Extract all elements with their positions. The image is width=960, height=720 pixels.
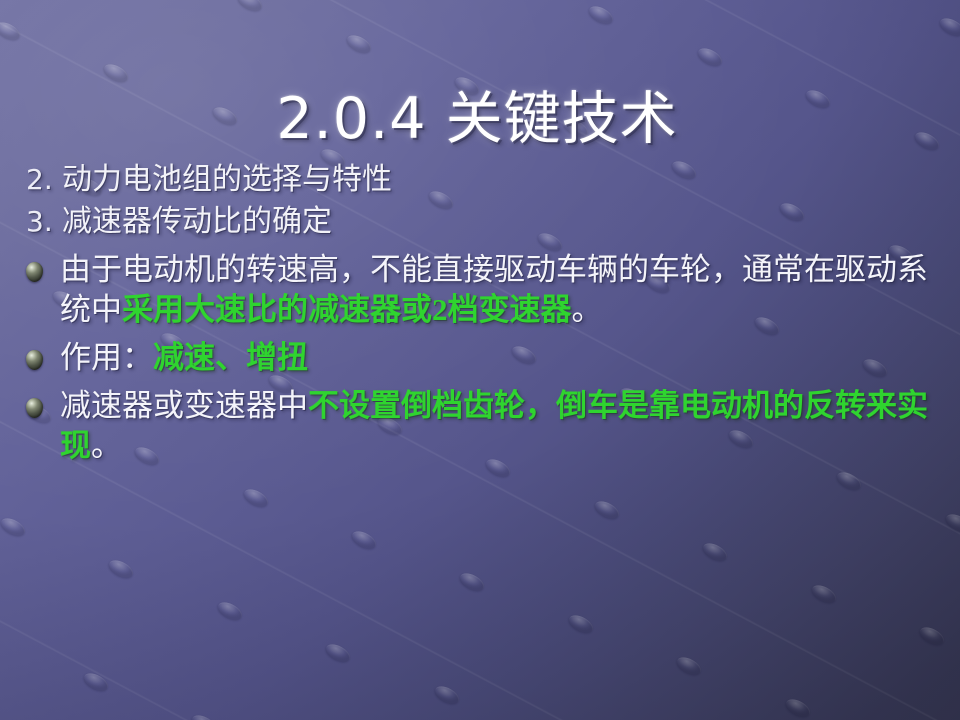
list-number: 3.: [26, 202, 62, 242]
bullet-run-highlight: 采用大速比的减速器或2档变速器: [122, 292, 572, 327]
background-bead: [675, 653, 705, 678]
bullet-run-highlight: 减速、增扭: [153, 340, 308, 375]
background-bead: [917, 624, 947, 649]
background-bead: [938, 15, 960, 40]
bullet-text: 由于电动机的转速高，不能直接驱动车辆的车轮，通常在驱动系统中采用大速比的减速器或…: [60, 250, 944, 330]
bullet-list-item: 减速器或变速器中不设置倒档齿轮，倒车是靠电动机的反转来实现。: [26, 386, 944, 466]
background-bead: [81, 670, 111, 695]
background-bead: [236, 0, 266, 14]
background-bead: [587, 3, 617, 28]
background-bead: [107, 557, 137, 582]
bullet-list-item: 作用：减速、增扭: [26, 338, 944, 378]
background-bead: [323, 641, 353, 666]
background-bead: [189, 712, 219, 720]
bullet-run-plain: 。: [91, 428, 122, 463]
page-title: 2.0.4 关键技术: [276, 90, 683, 150]
sphere-bullet-icon: [26, 386, 60, 418]
sphere-bullet-icon: [26, 338, 60, 370]
background-bead: [835, 469, 865, 494]
background-bead: [0, 628, 2, 653]
background-bead: [215, 599, 245, 624]
list-item-label: 减速器传动比的确定: [62, 202, 944, 242]
bullet-text: 作用：减速、增扭: [60, 338, 944, 378]
list-item-label: 动力电池组的选择与特性: [62, 160, 944, 200]
background-bead: [700, 540, 730, 565]
bullet-run-plain: 作用：: [60, 340, 153, 375]
background-bead: [349, 527, 379, 552]
background-bead: [458, 569, 488, 594]
list-number: 2.: [26, 160, 62, 200]
bullet-run-plain: 减速器或变速器中: [60, 388, 308, 423]
background-bead: [943, 511, 960, 536]
bullet-run-plain: 。: [572, 292, 603, 327]
background-bead: [566, 611, 596, 636]
slide-body: 2. 动力电池组的选择与特性 3. 减速器传动比的确定 由于电动机的转速高，不能…: [26, 160, 944, 466]
background-bead: [241, 485, 271, 510]
numbered-list-item: 2. 动力电池组的选择与特性: [26, 160, 944, 200]
background-bead: [0, 515, 28, 540]
sphere-bullet-icon: [26, 250, 60, 282]
background-bead: [432, 683, 462, 708]
presentation-slide: 2.0.4 关键技术 2. 动力电池组的选择与特性 3. 减速器传动比的确定 由…: [0, 0, 960, 720]
bullet-list-item: 由于电动机的转速高，不能直接驱动车辆的车轮，通常在驱动系统中采用大速比的减速器或…: [26, 250, 944, 330]
background-bead: [0, 19, 22, 44]
background-bead: [783, 695, 813, 720]
bullet-text: 减速器或变速器中不设置倒档齿轮，倒车是靠电动机的反转来实现。: [60, 386, 944, 466]
background-bead: [809, 582, 839, 607]
numbered-list-item: 3. 减速器传动比的确定: [26, 202, 944, 242]
background-bead: [592, 498, 622, 523]
